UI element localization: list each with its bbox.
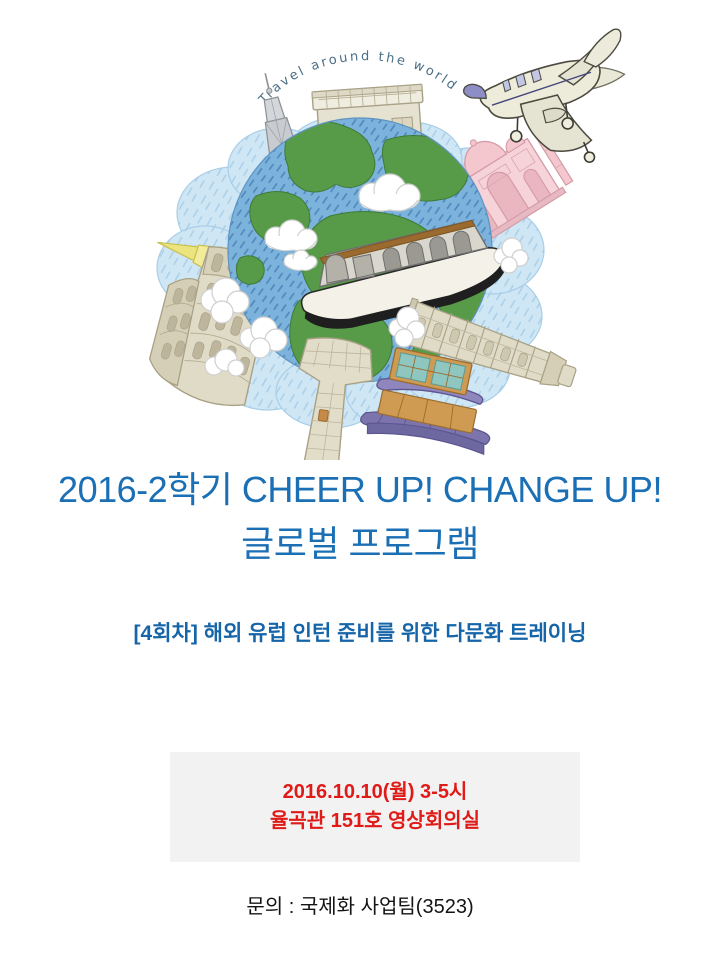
schedule-info-box: 2016.10.10(월) 3-5시 율곡관 151호 영상회의실 [170, 752, 580, 862]
schedule-location: 율곡관 151호 영상회의실 [270, 807, 480, 836]
contact-info: 문의 : 국제화 사업팀(3523) [0, 890, 720, 919]
page-title-line2: 글로벌 프로그램 [0, 524, 720, 564]
page-title-line1: 2016-2학기 CHEER UP! CHANGE UP! [0, 470, 720, 510]
schedule-date-time: 2016.10.10(월) 3-5시 [283, 778, 468, 807]
poster-root: Travel around the world [0, 0, 720, 960]
hero-illustration: Travel around the world [0, 0, 720, 460]
program-subtitle: [4회차] 해외 유럽 인턴 준비를 위한 다문화 트레이닝 [0, 621, 720, 646]
text-content: 2016-2학기 CHEER UP! CHANGE UP! 글로벌 프로그램 [… [0, 470, 720, 646]
